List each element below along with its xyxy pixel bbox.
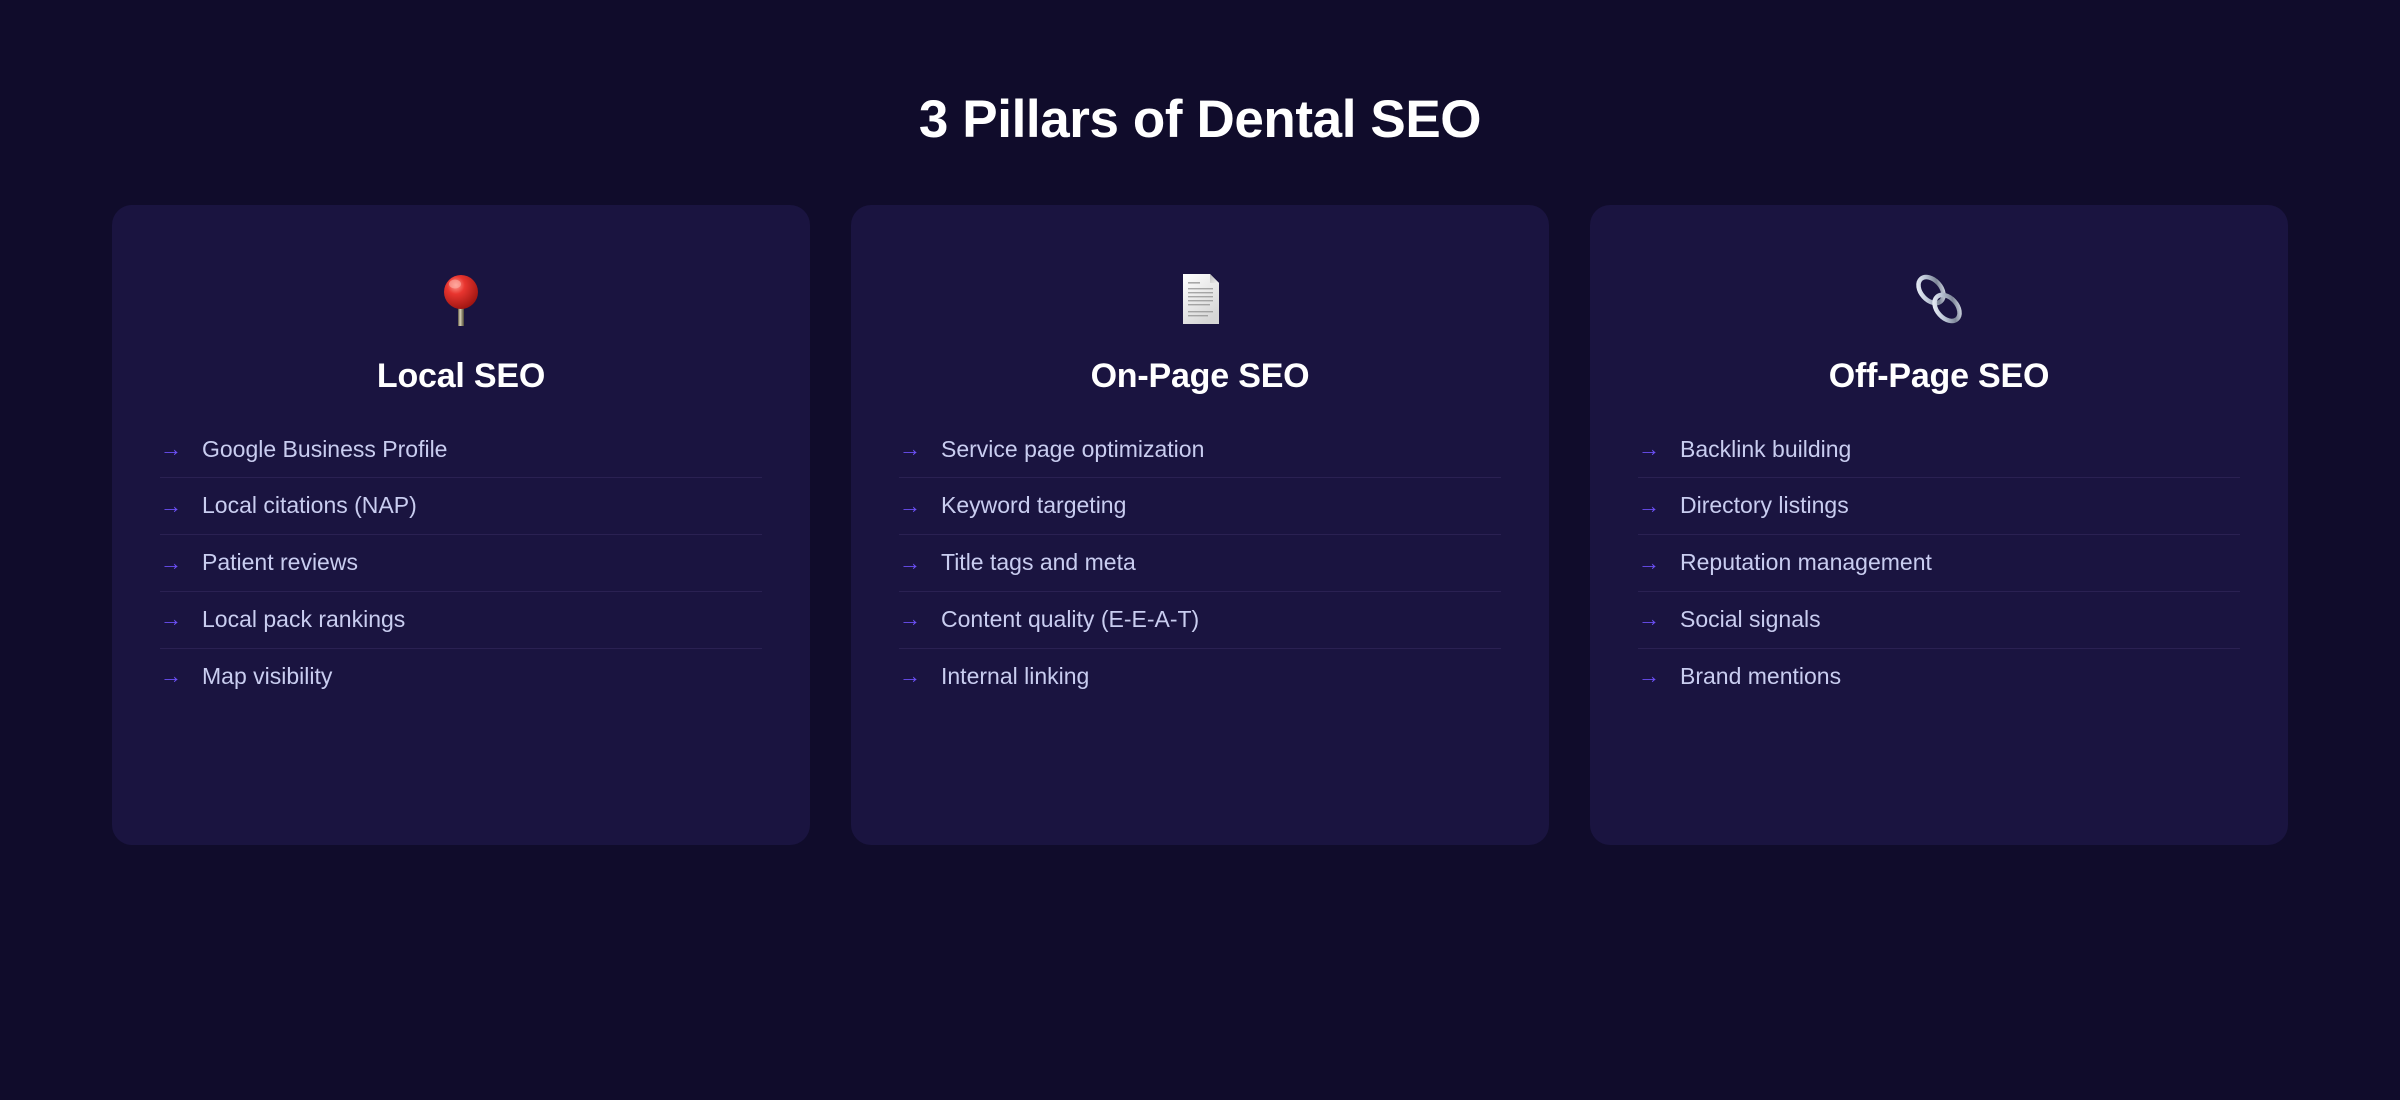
list-item-label: Keyword targeting [941, 491, 1501, 520]
card-heading: Local SEO [160, 335, 762, 422]
list-item[interactable]: → Title tags and meta [899, 535, 1501, 592]
list-item[interactable]: → Social signals [1638, 592, 2240, 649]
list-item-label: Directory listings [1680, 491, 2240, 520]
arrow-right-icon: → [1638, 438, 1664, 460]
list-item[interactable]: → Internal linking [899, 649, 1501, 705]
list-item-label: Brand mentions [1680, 662, 2240, 691]
arrow-right-icon: → [160, 552, 186, 574]
card-local-seo: Local SEO → Google Business Profile → Lo… [112, 205, 810, 845]
list-item[interactable]: → Map visibility [160, 649, 762, 705]
pillars-infographic: 3 Pillars of Dental SEO [0, 0, 2400, 1100]
list-item[interactable]: → Google Business Profile [160, 422, 762, 479]
list-item-label: Map visibility [202, 662, 762, 691]
arrow-right-icon: → [1638, 608, 1664, 630]
card-list: → Backlink building → Directory listings… [1638, 422, 2240, 705]
arrow-right-icon: → [899, 552, 925, 574]
list-item[interactable]: → Patient reviews [160, 535, 762, 592]
link-chain-icon [1638, 267, 2240, 329]
list-item[interactable]: → Local citations (NAP) [160, 478, 762, 535]
list-item-label: Title tags and meta [941, 548, 1501, 577]
card-off-page-seo: Off-Page SEO → Backlink building → Direc… [1590, 205, 2288, 845]
list-item[interactable]: → Brand mentions [1638, 649, 2240, 705]
list-item[interactable]: → Directory listings [1638, 478, 2240, 535]
list-item-label: Content quality (E-E-A-T) [941, 605, 1501, 634]
list-item-label: Local citations (NAP) [202, 491, 762, 520]
arrow-right-icon: → [1638, 495, 1664, 517]
round-pushpin-icon [160, 267, 762, 329]
list-item-label: Google Business Profile [202, 435, 762, 464]
card-heading: Off-Page SEO [1638, 335, 2240, 422]
list-item-label: Backlink building [1680, 435, 2240, 464]
card-list: → Google Business Profile → Local citati… [160, 422, 762, 705]
arrow-right-icon: → [899, 495, 925, 517]
arrow-right-icon: → [899, 665, 925, 687]
arrow-right-icon: → [160, 495, 186, 517]
card-heading: On-Page SEO [899, 335, 1501, 422]
cards-container: Local SEO → Google Business Profile → Lo… [112, 205, 2288, 845]
list-item-label: Patient reviews [202, 548, 762, 577]
list-item[interactable]: → Service page optimization [899, 422, 1501, 479]
arrow-right-icon: → [1638, 552, 1664, 574]
list-item-label: Local pack rankings [202, 605, 762, 634]
list-item-label: Social signals [1680, 605, 2240, 634]
page-document-icon [899, 267, 1501, 329]
list-item-label: Internal linking [941, 662, 1501, 691]
arrow-right-icon: → [160, 608, 186, 630]
card-list: → Service page optimization → Keyword ta… [899, 422, 1501, 705]
list-item[interactable]: → Reputation management [1638, 535, 2240, 592]
list-item[interactable]: → Content quality (E-E-A-T) [899, 592, 1501, 649]
arrow-right-icon: → [1638, 665, 1664, 687]
list-item-label: Service page optimization [941, 435, 1501, 464]
page-title: 3 Pillars of Dental SEO [112, 0, 2288, 148]
arrow-right-icon: → [899, 438, 925, 460]
list-item[interactable]: → Local pack rankings [160, 592, 762, 649]
card-on-page-seo: On-Page SEO → Service page optimization … [851, 205, 1549, 845]
arrow-right-icon: → [160, 665, 186, 687]
list-item[interactable]: → Keyword targeting [899, 478, 1501, 535]
list-item-label: Reputation management [1680, 548, 2240, 577]
arrow-right-icon: → [899, 608, 925, 630]
list-item[interactable]: → Backlink building [1638, 422, 2240, 479]
arrow-right-icon: → [160, 438, 186, 460]
